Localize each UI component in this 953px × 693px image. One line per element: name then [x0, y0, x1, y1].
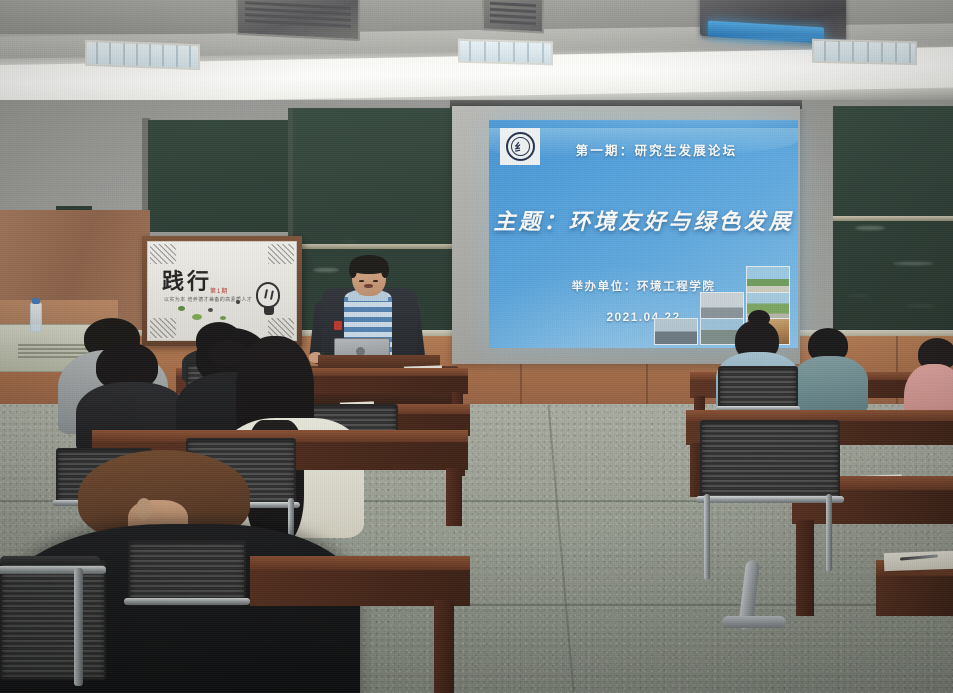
air-conditioning-vent-icon	[236, 0, 360, 41]
poster-badge: 第1期	[210, 286, 228, 295]
slide-photo-thumbnail	[700, 292, 744, 320]
recessed-light-panel-icon	[812, 39, 917, 66]
air-conditioning-vent-secondary-icon	[482, 0, 544, 34]
student-hair-bun	[748, 310, 770, 327]
chair-rail	[0, 566, 106, 574]
speaker-mouth	[364, 284, 373, 288]
desk-row-nearest-right-apron	[876, 576, 953, 616]
desk-leg	[446, 468, 462, 526]
chair-armrest	[0, 556, 100, 565]
speaker-lapel-badge	[334, 321, 342, 330]
lecture-hall-photo: 践行 第1期 以实为本 培养德才兼备的高素质人才 纟 第一期：研究生发展论坛 主…	[0, 0, 953, 693]
recessed-light-panel-icon	[458, 39, 553, 66]
desk-leg	[434, 600, 454, 693]
blackboard-right-divider	[833, 216, 953, 221]
chair-back[interactable]	[700, 420, 840, 502]
speaker-hair-side-right	[381, 262, 389, 278]
blackboard-right	[833, 106, 953, 348]
open-notebook	[884, 551, 953, 571]
slide-photo-thumbnail	[654, 318, 698, 345]
blackboard-center-divider	[288, 244, 453, 249]
slide-title-text: 主题：环境友好与绿色发展	[489, 204, 798, 236]
chair-back[interactable]	[0, 560, 106, 680]
chair-post	[704, 494, 710, 580]
student-front-ear	[136, 498, 152, 520]
speaker-hair-side-left	[349, 262, 357, 278]
chair-rail	[696, 496, 844, 503]
slide-photo-thumbnail	[746, 266, 790, 295]
chair-back[interactable]	[128, 540, 246, 606]
slide-header-text: 第一期：研究生发展论坛	[489, 140, 798, 159]
blackboard-left	[148, 120, 290, 232]
recessed-light-panel-icon	[85, 40, 200, 70]
chair-back[interactable]	[718, 366, 798, 410]
water-bottle	[30, 302, 42, 332]
student-teal-shirt-right	[792, 356, 868, 412]
desk-leg	[796, 520, 814, 616]
chair-rail	[124, 598, 250, 605]
chair-base	[722, 616, 786, 628]
lightbulb-icon	[256, 282, 280, 308]
water-bottle-cap	[32, 298, 40, 304]
chair-post	[74, 568, 83, 686]
chair-post	[826, 494, 832, 572]
poster-title: 践行	[162, 264, 212, 296]
